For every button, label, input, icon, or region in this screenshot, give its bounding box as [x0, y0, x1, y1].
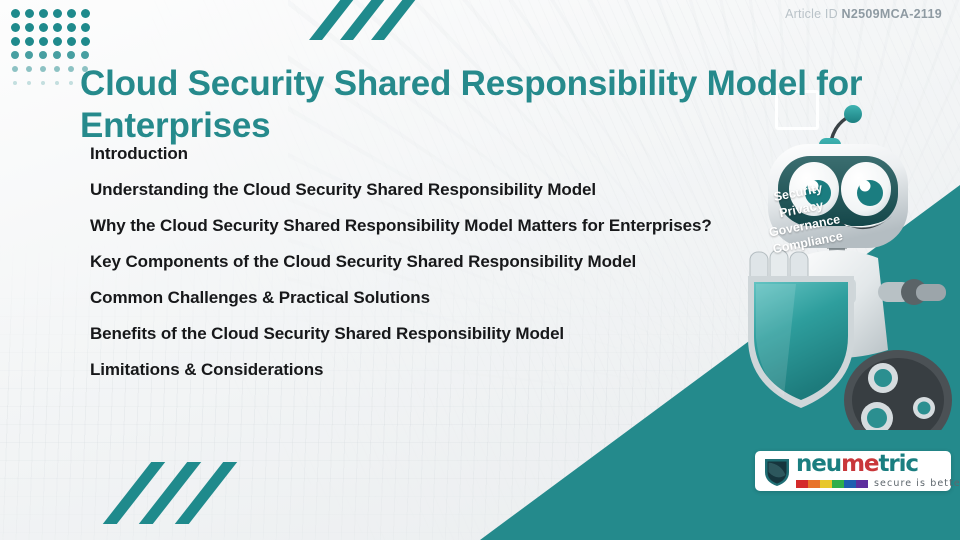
agenda-item: Common Challenges & Practical Solutions	[90, 280, 720, 316]
agenda-list: Introduction Understanding the Cloud Sec…	[90, 136, 720, 388]
logo-bar-segment	[856, 480, 868, 488]
agenda-item: Benefits of the Cloud Security Shared Re…	[90, 316, 720, 352]
grid-dot	[11, 9, 20, 18]
robot-illustration	[726, 100, 960, 430]
grid-dot	[12, 66, 18, 72]
grid-dot	[39, 37, 48, 46]
grid-dot	[41, 81, 45, 85]
grid-dot	[67, 37, 76, 46]
page-title: Cloud Security Shared Responsibility Mod…	[80, 63, 920, 146]
grid-dot	[68, 66, 74, 72]
grid-dot	[39, 23, 48, 32]
logo-bar-segment	[832, 480, 844, 488]
grid-dot	[53, 9, 62, 18]
grid-dot	[81, 9, 90, 18]
grid-dot	[39, 51, 47, 59]
grid-dot	[40, 66, 46, 72]
logo-word-part2: tric	[878, 451, 917, 477]
diagonal-stripes-top	[325, 0, 445, 40]
grid-dot	[67, 51, 75, 59]
grid-dot	[81, 51, 89, 59]
grid-dot	[69, 81, 73, 85]
grid-dot	[39, 9, 48, 18]
agenda-item: Key Components of the Cloud Security Sha…	[90, 244, 720, 280]
agenda-item: Understanding the Cloud Security Shared …	[90, 172, 720, 208]
logo-shield-icon	[763, 455, 791, 487]
logo-color-bar	[796, 480, 868, 488]
grid-dot	[11, 51, 19, 59]
grid-dot	[53, 51, 61, 59]
robot-right-arm	[878, 279, 946, 305]
grid-dot	[11, 23, 20, 32]
agenda-item: Why the Cloud Security Shared Responsibi…	[90, 208, 720, 244]
grid-dot	[67, 23, 76, 32]
grid-dot	[13, 81, 17, 85]
grid-dot	[53, 23, 62, 32]
neumetric-logo[interactable]: neumetric secure is better	[755, 451, 951, 491]
logo-text-block: neumetric secure is better	[796, 453, 960, 489]
logo-word-part1: neu	[796, 451, 841, 477]
logo-subrow: secure is better	[796, 479, 960, 489]
grid-dot	[27, 81, 31, 85]
grid-dot	[25, 51, 33, 59]
robot-eye-glint-right	[860, 181, 871, 192]
logo-tagline: secure is better	[874, 479, 960, 489]
grid-dot	[67, 9, 76, 18]
grid-dot	[11, 37, 20, 46]
grid-dot	[54, 66, 60, 72]
robot-eye-glint-left	[808, 181, 819, 192]
logo-word-accent: me	[841, 451, 878, 477]
grid-dot	[81, 23, 90, 32]
logo-bar-segment	[844, 480, 856, 488]
logo-wordmark: neumetric	[796, 453, 960, 476]
grid-dot	[25, 37, 34, 46]
agenda-item: Limitations & Considerations	[90, 352, 720, 388]
grid-dot	[25, 9, 34, 18]
grid-dot	[55, 81, 59, 85]
grid-dot	[25, 23, 34, 32]
robot-mascot: Security Privacy Governance Compliance	[726, 100, 960, 430]
grid-dot	[53, 37, 62, 46]
robot-wheel	[844, 350, 952, 430]
article-id-label: Article ID	[785, 7, 838, 21]
security-shield	[748, 276, 854, 408]
logo-bar-segment	[796, 480, 808, 488]
article-id: Article ID N2509MCA-2119	[785, 7, 942, 21]
logo-bar-segment	[820, 480, 832, 488]
logo-bar-segment	[808, 480, 820, 488]
diagonal-stripes-bottom	[125, 462, 255, 524]
agenda-item: Introduction	[90, 136, 720, 172]
grid-dot	[81, 37, 90, 46]
slide-canvas: Article ID N2509MCA-2119 Cloud Security …	[0, 0, 960, 540]
grid-dot	[26, 66, 32, 72]
article-id-value: N2509MCA-2119	[842, 7, 942, 21]
